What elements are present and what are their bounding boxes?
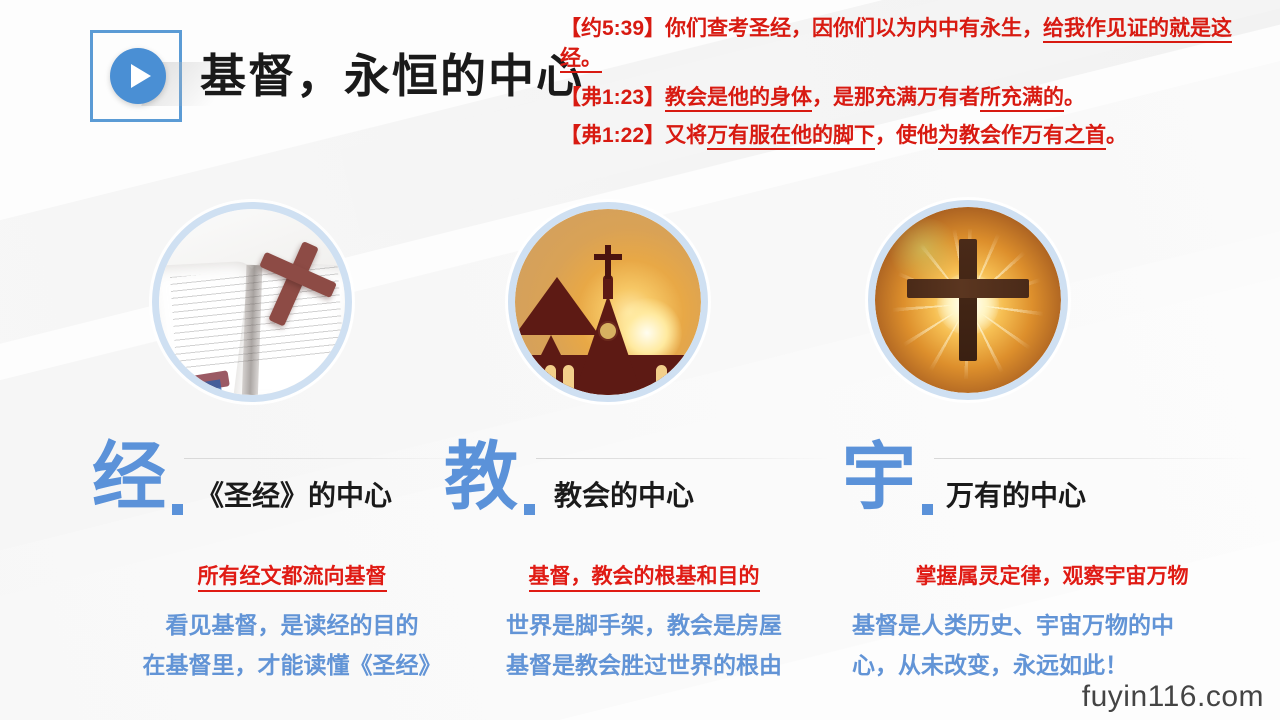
column-big-char: 经 [92,440,166,514]
body-line: 基督是教会胜过世界的根由 [444,646,844,686]
column-divider [934,458,1252,459]
verse-text-underlined: 万有服在他的脚下 [707,124,875,150]
column-divider [536,458,834,459]
verse-text-plain: ，使他 [875,124,938,147]
column-square-dot [922,504,933,515]
column-universe: 宇 万有的中心 掌握属灵定律，观察宇宙万物 基督是人类历史、宇宙万物的中 心，从… [842,438,1262,685]
church-silhouette-icon [515,277,701,395]
verse-text-plain: 你们查考圣经，因你们以为内中有永生， [665,17,1043,40]
column-square-dot [524,504,535,515]
column-subtitle: 《圣经》的中心 [196,474,392,514]
column-subtitle: 教会的中心 [554,474,694,514]
photo-church-silhouette-sunset [508,202,708,402]
column-red-heading: 所有经文都流向基督 [92,560,492,590]
column-square-dot [172,504,183,515]
column-body: 看见基督，是读经的目的 在基督里，才能读懂《圣经》 [92,606,492,685]
verse-item: 【弗1:22】又将万有服在他的脚下，使他为教会作万有之首。 [560,121,1272,151]
verse-reference: 【约5:39】 [560,17,665,40]
scripture-verses: 【约5:39】你们查考圣经，因你们以为内中有永生，给我作见证的就是这经。 【弗1… [560,14,1272,160]
column-big-char: 宇 [842,440,916,514]
column-divider [184,458,482,459]
column-body: 世界是脚手架，教会是房屋 基督是教会胜过世界的根由 [444,606,844,685]
photo-glowing-cross [868,200,1068,400]
verse-text-underlined: 教会是他的身体 [665,86,812,112]
column-body: 基督是人类历史、宇宙万物的中 心，从未改变，永远如此！ [842,606,1262,685]
column-subtitle: 万有的中心 [946,474,1086,514]
page-title: 基督，永恒的中心 [200,40,584,106]
body-line: 看见基督，是读经的目的 [92,606,492,646]
verse-text-plain: 又将 [665,124,707,147]
column-red-heading: 基督，教会的根基和目的 [444,560,844,590]
radiant-cross-icon [959,239,977,362]
column-big-char: 教 [444,440,518,514]
steeple-cross-icon [594,245,622,279]
verse-reference: 【弗1:23】 [560,86,665,109]
verse-text-plain: ，是那充满万有者 [812,86,980,109]
photo-cross-on-open-bible [152,202,352,402]
column-church: 教 教会的中心 基督，教会的根基和目的 世界是脚手架，教会是房屋 基督是教会胜过… [444,438,844,685]
verse-text-underlined: 所充满的 [980,86,1064,112]
body-line: 基督是人类历史、宇宙万物的中 [852,606,1262,646]
play-button-icon[interactable] [110,48,166,104]
slide-canvas: 基督，永恒的中心 【约5:39】你们查考圣经，因你们以为内中有永生，给我作见证的… [0,0,1280,720]
verse-item: 【约5:39】你们查考圣经，因你们以为内中有永生，给我作见证的就是这经。 [560,14,1272,74]
body-line: 在基督里，才能读懂《圣经》 [92,646,492,686]
verse-text-plain: 。 [1106,124,1127,147]
site-watermark: fuyin116.com [1082,680,1264,714]
column-scripture: 经 《圣经》的中心 所有经文都流向基督 看见基督，是读经的目的 在基督里，才能读… [92,438,492,685]
verse-text-plain: 。 [1064,86,1085,109]
verse-reference: 【弗1:22】 [560,124,665,147]
column-red-heading: 掌握属灵定律，观察宇宙万物 [842,560,1262,590]
body-line: 世界是脚手架，教会是房屋 [444,606,844,646]
verse-text-underlined: 为教会作万有之首 [938,124,1106,150]
verse-item: 【弗1:23】教会是他的身体，是那充满万有者所充满的。 [560,83,1272,113]
